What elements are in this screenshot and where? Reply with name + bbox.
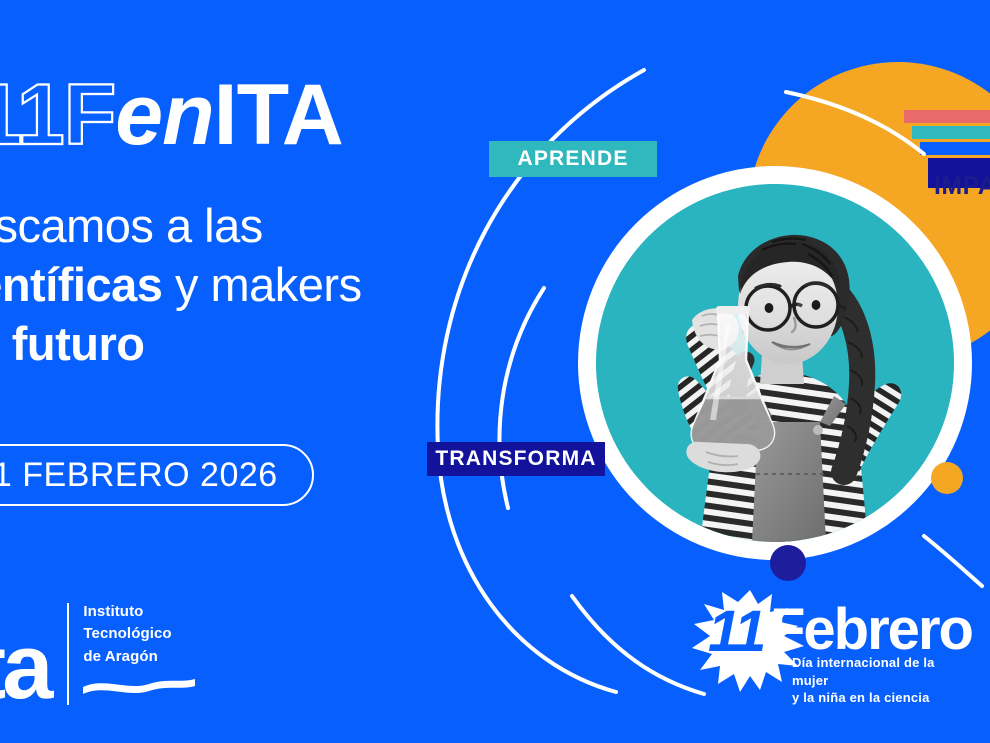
event-logo-subtitle-line2: y la niña en la ciencia [792, 689, 956, 707]
ita-logo-text: Instituto Tecnológico de Aragón [67, 603, 195, 705]
headline-ita: ITA [214, 67, 343, 163]
subheadline-futuro: futuro [12, 317, 145, 370]
orange-dot-shape [931, 462, 963, 494]
ita-line-3: de Aragón [83, 648, 195, 666]
date-badge[interactable]: 11 FEBRERO 2026 [0, 444, 314, 506]
event-logo-subtitle-line1: Día internacional de la mujer [792, 654, 956, 689]
event-logo-11febrero[interactable]: 11 Febrero Día internacional de la mujer… [686, 592, 956, 702]
badge-transforma: TRANSFORMA [427, 442, 605, 476]
badge-aprende: APRENDE [489, 141, 657, 177]
badge-transforma-label: TRANSFORMA [435, 447, 596, 471]
subheadline-line1: Buscamos a las [0, 199, 263, 252]
subheadline-cientificas: científicas [0, 258, 162, 311]
headline-en: en [115, 67, 213, 163]
date-badge-label: 11 FEBRERO 2026 [0, 456, 278, 495]
event-logo-day: 11 [708, 598, 764, 665]
badge-aprende-label: APRENDE [517, 147, 628, 171]
event-logo-month: Febrero [770, 596, 972, 663]
navy-dot-shape [770, 545, 806, 581]
photo-circle-inner [596, 184, 954, 542]
subheadline-del: del [0, 317, 12, 370]
girl-scientist-photo [596, 184, 954, 542]
subheadline-ymakers: y makers [162, 258, 361, 311]
page-title: #11FenITA [0, 72, 343, 158]
wave-icon [83, 675, 195, 701]
ita-logo[interactable]: ita Instituto Tecnológico de Aragón [0, 603, 195, 705]
poster-canvas: #11FenITA Buscamos a las científicas y m… [0, 0, 990, 743]
ita-wordmark: ita [0, 630, 49, 705]
ita-line-1: Instituto [83, 603, 195, 621]
ita-line-2: Tecnológico [83, 625, 195, 643]
photo-circle [578, 166, 972, 560]
headline-11f: 11F [0, 67, 115, 163]
event-logo-subtitle: Día internacional de la mujer y la niña … [792, 654, 956, 707]
